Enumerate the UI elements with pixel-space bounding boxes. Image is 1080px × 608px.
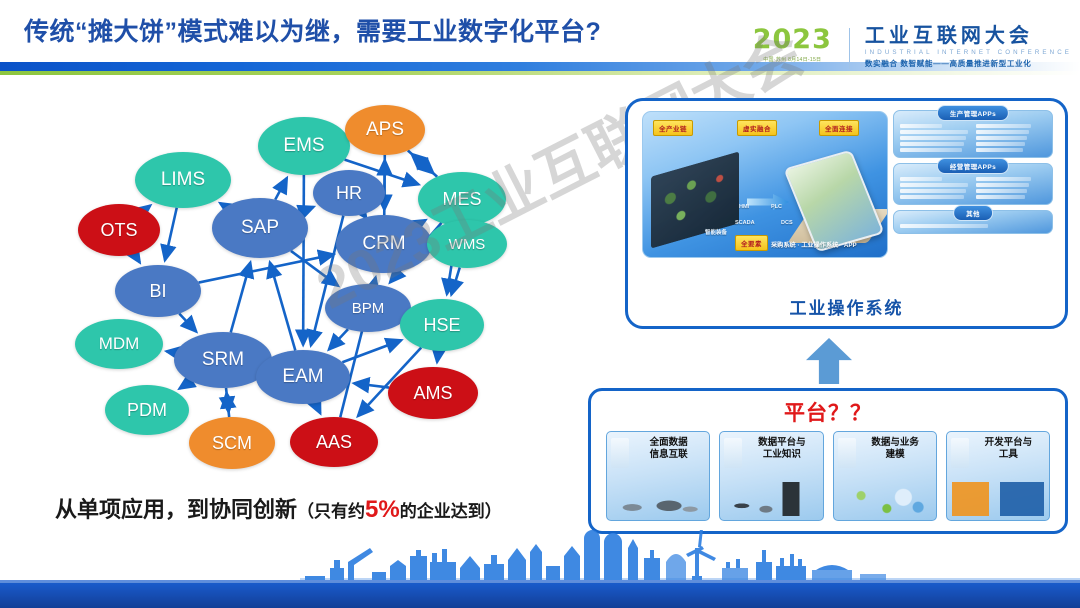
yellow-label-0: 全产业链 <box>653 120 693 136</box>
app-row-column <box>900 124 971 152</box>
app-row-line <box>900 136 966 140</box>
graph-node-scm: SCM <box>189 417 275 469</box>
logo-name-en: INDUSTRIAL INTERNET CONFERENCE <box>865 49 1072 56</box>
os-illustration-caption: 采购系统 · 工业操作系统 · APP <box>771 240 857 249</box>
logo-name-block: 工业互联网大会 INDUSTRIAL INTERNET CONFERENCE 数… <box>858 26 1072 69</box>
platform-card-artwork <box>612 482 704 516</box>
app-row-line <box>976 136 1027 140</box>
logo-year-subtitle: 中国·苏州 8月14日-15日 <box>763 56 821 63</box>
graph-node-label: SCM <box>212 433 252 454</box>
graph-edge-bi-srm <box>179 314 196 332</box>
graph-node-label: OTS <box>100 220 137 241</box>
platform-card-artwork <box>839 482 931 516</box>
graph-node-sap: SAP <box>212 198 308 258</box>
app-row-line <box>976 189 1027 193</box>
graph-node-label: HR <box>336 183 362 204</box>
small-label-equip: 智能装备 <box>705 228 727 236</box>
app-group-1: 生产管理APPs <box>893 110 1053 158</box>
platform-card-line2: 信息互联 <box>633 449 704 461</box>
graph-node-mdm: MDM <box>75 319 163 369</box>
graph-edge-crm-mes <box>419 220 426 224</box>
app-group-title: 生产管理APPs <box>937 105 1009 121</box>
graph-node-label: BPM <box>352 300 385 317</box>
graph-edge-scm-srm <box>227 393 230 417</box>
graph-node-aas: AAS <box>290 417 378 467</box>
platform-card-icon <box>951 438 969 468</box>
graph-node-eam: EAM <box>256 350 350 404</box>
graph-node-ots: OTS <box>78 204 160 256</box>
platform-card-label: 数据与业务建模 <box>860 437 931 461</box>
platform-card-line2: 工具 <box>973 449 1044 461</box>
page-title: 传统“摊大饼”模式难以为继，需要工业数字化平台? <box>24 12 601 48</box>
platform-card-icon <box>611 438 629 468</box>
slide-root: 传统“摊大饼”模式难以为继，需要工业数字化平台? 2023 中国·苏州 8月14… <box>0 0 1080 608</box>
graph-node-label: SRM <box>202 349 244 371</box>
os-illustration: 全产业链 虚实融合 全面连接 HMI PLC SCADA DCS 智能装备 全要… <box>642 111 888 258</box>
app-row-line <box>900 142 964 146</box>
graph-edge-srm-pdm <box>179 381 191 389</box>
small-label-scada: SCADA <box>735 220 755 226</box>
app-row-line <box>900 183 968 187</box>
small-label-dcs: DCS <box>781 220 793 226</box>
app-row-line <box>976 177 1032 181</box>
graph-node-hse: HSE <box>400 299 484 351</box>
yellow-label-2: 全面连接 <box>819 120 859 136</box>
graph-node-aps: APS <box>345 105 425 155</box>
app-row-column <box>900 177 971 199</box>
graph-edge-srm-mdm <box>166 351 175 352</box>
platform-card-label: 全面数据信息互联 <box>633 437 704 461</box>
graph-node-label: APS <box>366 119 404 141</box>
app-row-column <box>976 124 1047 152</box>
logo-name-cn: 工业互联网大会 <box>865 26 1072 47</box>
app-row-column <box>976 177 1047 199</box>
graph-node-bi: BI <box>115 265 201 317</box>
graph-node-ams: AMS <box>388 367 478 419</box>
small-label-hmi: HMI <box>739 204 749 210</box>
up-arrow-icon <box>806 338 852 384</box>
graph-node-lims: LIMS <box>135 152 231 208</box>
bottom-caption: 从单项应用，到协同创新（只有约5%的企业达到） <box>55 492 502 524</box>
os-panel-title: 工业操作系统 <box>628 294 1065 319</box>
app-group-rows <box>900 124 1046 152</box>
app-groups-column: 生产管理APPs经营管理APPs其他 <box>893 110 1053 239</box>
platform-card-line1: 开发平台与 <box>973 437 1044 449</box>
graph-node-label: EMS <box>283 135 324 157</box>
app-row-line <box>976 148 1023 152</box>
sea-band <box>0 580 1080 608</box>
graph-node-crm: CRM <box>336 215 432 273</box>
logo-year-block: 2023 中国·苏州 8月14日-15日 <box>753 26 841 63</box>
platform-card-line2: 建模 <box>860 449 931 461</box>
graph-edge-ots-bi <box>134 254 139 262</box>
platform-card-line1: 全面数据 <box>633 437 704 449</box>
app-row-line <box>976 142 1025 146</box>
app-row-line <box>900 195 964 199</box>
platform-card-1[interactable]: 全面数据信息互联 <box>606 431 710 521</box>
industrial-os-panel: 全产业链 虚实融合 全面连接 HMI PLC SCADA DCS 智能装备 全要… <box>625 98 1068 329</box>
graph-edge-eam-hse <box>342 340 401 362</box>
app-group-rows <box>900 177 1046 199</box>
graph-node-ems: EMS <box>258 117 350 175</box>
graph-node-label: WMS <box>449 236 486 253</box>
app-row-line <box>976 124 1032 128</box>
graph-edge-eam-aas <box>315 403 320 413</box>
platform-card-icon <box>838 438 856 468</box>
yellow-label-1: 虚实融合 <box>737 120 777 136</box>
graph-node-label: HSE <box>423 315 460 336</box>
graph-node-label: MES <box>442 189 481 210</box>
graph-node-label: SAP <box>241 217 279 239</box>
graph-node-bpm: BPM <box>325 284 411 332</box>
app-group-title: 经营管理APPs <box>937 158 1009 174</box>
app-row-line <box>900 177 942 181</box>
bottom-skyline-banner <box>0 532 1080 608</box>
graph-node-label: PDM <box>127 400 167 421</box>
caption-paren-rest: 的企业达到） <box>400 502 502 521</box>
app-row-line <box>900 189 966 193</box>
app-row-line <box>900 130 968 134</box>
platform-card-4[interactable]: 开发平台与工具 <box>946 431 1050 521</box>
app-group-rows <box>900 224 1046 228</box>
graph-node-hr: HR <box>313 170 385 216</box>
graph-node-wms: WMS <box>427 220 507 268</box>
graph-node-label: LIMS <box>161 169 205 191</box>
caption-paren-open: （只有约 <box>297 502 365 521</box>
graph-edge-sap-ems <box>275 178 287 200</box>
skyline-silhouette-icon <box>0 530 1080 582</box>
app-row-line <box>900 148 962 152</box>
graph-edge-ots-lims <box>145 206 151 210</box>
app-row-line <box>900 124 942 128</box>
graph-node-label: BI <box>149 281 166 302</box>
app-group-title: 其他 <box>953 205 993 221</box>
app-group-2: 经营管理APPs <box>893 163 1053 205</box>
platform-card-3[interactable]: 数据与业务建模 <box>833 431 937 521</box>
graph-node-label: MDM <box>99 334 140 354</box>
platform-card-line1: 数据平台与 <box>746 437 817 449</box>
platform-card-line2: 工业知识 <box>746 449 817 461</box>
app-row-line <box>976 130 1030 134</box>
logo-divider <box>849 28 850 69</box>
logo-year: 2023 <box>753 26 832 53</box>
graph-edge-ams-eam <box>354 383 389 387</box>
graph-node-label: EAM <box>282 366 323 388</box>
header-divider-green <box>0 71 1080 75</box>
platform-card-artwork <box>725 482 817 516</box>
graph-edge-mes-aps <box>412 154 438 177</box>
graph-node-label: AMS <box>413 383 452 404</box>
graph-edge-hse-ams <box>437 351 438 362</box>
conference-logo: 2023 中国·苏州 8月14日-15日 工业互联网大会 INDUSTRIAL … <box>753 26 1072 69</box>
caption-percent: 5% <box>365 496 400 523</box>
graph-edge-wms-hse <box>451 268 459 295</box>
graph-node-pdm: PDM <box>105 385 189 435</box>
platform-card-label: 开发平台与工具 <box>973 437 1044 461</box>
yellow-label-bottom: 全要素 <box>735 235 768 251</box>
app-row-line <box>976 195 1025 199</box>
graph-node-label: AAS <box>316 432 352 453</box>
platform-card-artwork <box>952 482 1044 516</box>
platform-panel: 平台？？ 全面数据信息互联数据平台与工业知识数据与业务建模开发平台与工具 <box>588 388 1068 534</box>
app-row-column <box>900 224 1046 228</box>
platform-card-icon <box>724 438 742 468</box>
platform-cards: 全面数据信息互联数据平台与工业知识数据与业务建模开发平台与工具 <box>606 431 1050 521</box>
app-group-3: 其他 <box>893 210 1053 234</box>
platform-card-line1: 数据与业务 <box>860 437 931 449</box>
graph-edge-eam-sap <box>270 262 295 350</box>
logo-tagline: 数实融合 数智赋能——高质量推进新型工业化 <box>865 58 1072 69</box>
caption-main: 从单项应用，到协同创新 <box>55 497 297 522</box>
application-network-diagram: EMSAPSLIMSHRMESOTSSAPCRMWMSBIBPMHSEMDMSR… <box>55 92 535 477</box>
platform-card-2[interactable]: 数据平台与工业知识 <box>719 431 823 521</box>
app-row-line <box>976 183 1030 187</box>
graph-edge-lims-bi <box>165 208 177 261</box>
app-row-line <box>900 224 988 228</box>
graph-node-mes: MES <box>418 172 506 226</box>
graph-edge-bpm-eam <box>329 329 348 349</box>
transform-arrow-icon <box>747 194 789 210</box>
platform-card-label: 数据平台与工业知识 <box>746 437 817 461</box>
small-label-plc: PLC <box>771 204 782 210</box>
platform-title: 平台？？ <box>591 397 1065 427</box>
graph-node-label: CRM <box>362 233 405 255</box>
